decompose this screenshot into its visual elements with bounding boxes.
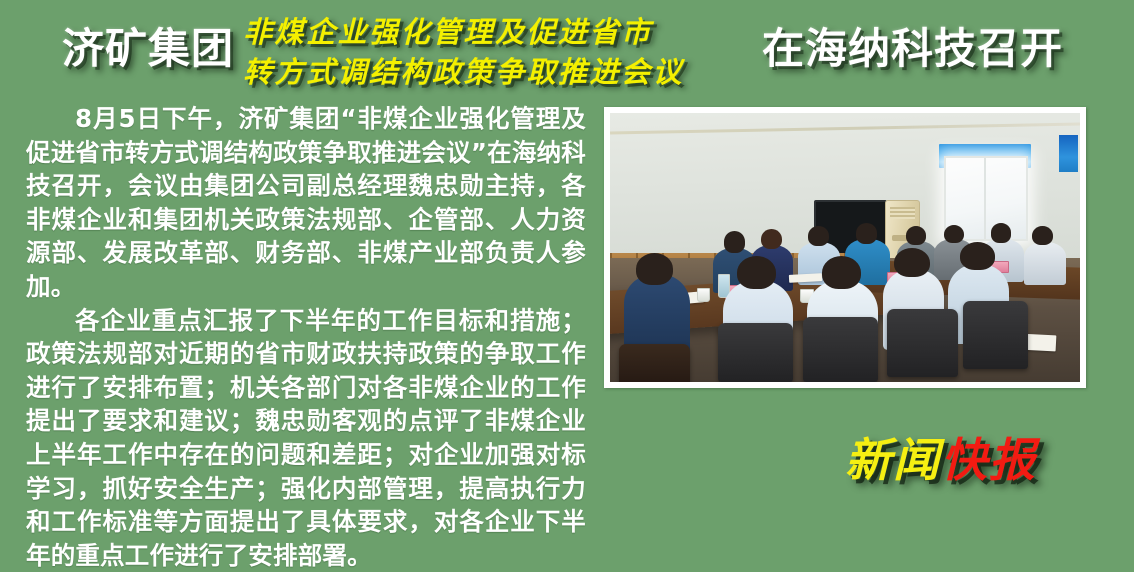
meeting-subject-line-2: 转方式调结构政策争取推进会议 [243,52,763,92]
meeting-subject: 非煤企业强化管理及促进省市 转方式调结构政策争取推进会议 [243,12,763,92]
news-banner-page: 济矿集团 非煤企业强化管理及促进省市 转方式调结构政策争取推进会议 在海纳科技召… [0,0,1134,520]
venue-name: 在海纳科技召开 [762,20,1063,78]
photo-office-chair-3 [887,309,958,376]
photo-person-near-2-head [737,256,776,290]
meeting-photo-frame [604,107,1086,388]
photo-person-far-1-head [724,231,746,253]
photo-speaker-head [856,223,878,243]
article-paragraph-2: 各企业重点汇报了下半年的工作目标和措施；政策法规部对近期的省市财政扶持政策的争取… [26,304,586,572]
photo-office-chair-2 [803,317,878,382]
news-brand-stamp: 新闻快报 [845,430,1037,490]
photo-person-near-3-head [822,256,861,290]
photo-office-chair-4 [963,301,1029,368]
article-body: 8月5日下午，济矿集团“非煤企业强化管理及促进省市转方式调结构政策争取推进会议”… [26,102,586,572]
photo-window-blind-right [1059,135,1078,173]
article-paragraph-1: 8月5日下午，济矿集团“非煤企业强化管理及促进省市转方式调结构政策争取推进会议”… [26,102,586,304]
meeting-photo [610,113,1080,382]
photo-office-chair-1 [718,323,793,382]
photo-wall-seam [610,123,1080,135]
photo-office-chair-5 [619,344,690,382]
photo-person-far-5-head [906,226,926,245]
photo-person-far-2-head [761,229,782,249]
photo-person-far-3-head [808,226,829,246]
photo-cup-1 [697,288,710,302]
photo-person-far-6-head [944,225,964,244]
photo-person-far-7-head [991,223,1012,242]
masthead: 济矿集团 非煤企业强化管理及促进省市 转方式调结构政策争取推进会议 在海纳科技召… [0,0,1134,100]
organization-name: 济矿集团 [62,20,234,78]
photo-person-near-5-head [960,242,995,270]
photo-person-near-4-head [894,248,930,278]
brand-text-secondary: 快报 [941,433,1037,487]
photo-person-near-1-head [636,253,674,285]
brand-text-primary: 新闻 [845,433,941,487]
photo-person-far-8 [1024,242,1066,285]
photo-person-far-8-head [1032,226,1053,245]
meeting-subject-line-1: 非煤企业强化管理及促进省市 [243,12,763,52]
